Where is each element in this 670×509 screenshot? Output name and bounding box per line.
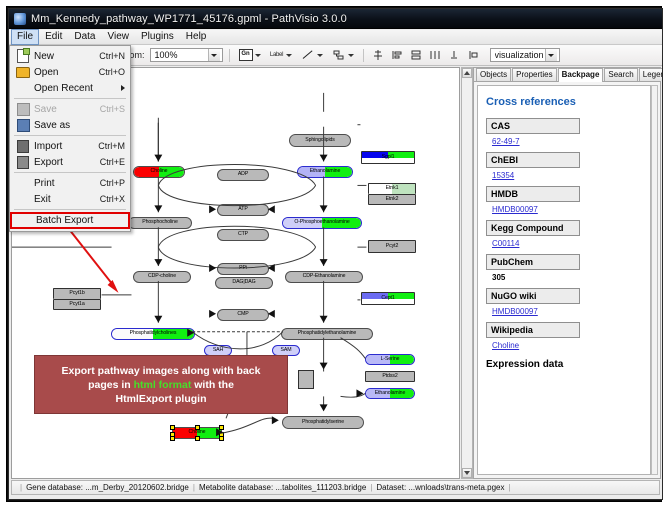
xref-value-pubchem: 305: [492, 273, 642, 282]
node-ptdss2[interactable]: Ptdss2: [365, 371, 415, 382]
file-menu-item-new[interactable]: New Ctrl+N: [10, 48, 130, 64]
scroll-up-icon[interactable]: [462, 68, 472, 78]
node-choline-bottom[interactable]: Choline: [172, 427, 222, 439]
blank-icon: [12, 192, 34, 206]
side-panel: Objects Properties Backpage Search Legen…: [473, 67, 661, 479]
xref-link-wikipedia[interactable]: Choline: [492, 341, 519, 350]
menu-file[interactable]: File: [11, 29, 39, 45]
xref-source-pubchem: PubChem: [486, 254, 580, 270]
xref-value-chebi[interactable]: 15354: [492, 171, 642, 180]
node-sgpl1[interactable]: Sgpl1: [361, 151, 415, 164]
datanode-tool[interactable]: Gn: [238, 47, 264, 63]
xref-source-cas: CAS: [486, 118, 580, 134]
open-folder-icon: [12, 65, 34, 79]
callout-box: Export pathway images along with back pa…: [34, 355, 288, 414]
callout-line3: HtmlExport plugin: [116, 392, 207, 406]
node-cdp-choline[interactable]: CDP-choline: [133, 271, 191, 283]
xref-link-nugo[interactable]: HMDB00097: [492, 307, 538, 316]
label-tool[interactable]: Label: [269, 47, 295, 63]
callout-line1: Export pathway images along with back: [62, 364, 261, 378]
export-icon: [12, 155, 34, 169]
file-menu-item-print[interactable]: Print Ctrl+P: [10, 175, 130, 191]
toolbar-separator: [363, 49, 364, 62]
cross-references-heading: Cross references: [486, 96, 642, 108]
callout-line2-pre: pages in: [88, 379, 134, 391]
expression-data-heading: Expression data: [486, 359, 642, 370]
zoom-value: 100%: [155, 50, 208, 60]
file-menu-item-exit[interactable]: Exit Ctrl+X: [10, 191, 130, 207]
scroll-down-icon[interactable]: [462, 468, 472, 478]
label-icon: Label: [269, 47, 285, 63]
node-pcyt1a[interactable]: Pcyt1a: [53, 299, 101, 310]
node-phosphatidylethanolamine[interactable]: Phosphatidylethanolamine: [281, 328, 373, 340]
callout-line2-post: with the: [191, 379, 234, 391]
menu-edit[interactable]: Edit: [39, 29, 68, 45]
xref-source-kegg: Kegg Compound: [486, 220, 580, 236]
node-atp[interactable]: ATP: [217, 204, 269, 216]
menu-help[interactable]: Help: [180, 29, 213, 45]
chevron-down-icon: [545, 49, 557, 61]
xref-link-cas[interactable]: 62-49-7: [492, 137, 520, 146]
callout-highlight: html format: [134, 379, 192, 391]
xref-value-wikipedia[interactable]: Choline: [492, 341, 642, 350]
tab-properties[interactable]: Properties: [512, 68, 556, 81]
resize-handle[interactable]: [195, 436, 200, 441]
status-gene-database: Gene database: ...m_Derby_20120602.bridg…: [26, 483, 189, 492]
node-etnk2[interactable]: Etnk2: [368, 194, 416, 205]
save-disk-icon: [12, 102, 34, 116]
node-ethanolamine-top[interactable]: Ethanolamine: [297, 166, 353, 178]
node-cmp[interactable]: CMP: [217, 309, 269, 321]
distribute-button[interactable]: [427, 47, 443, 63]
menu-divider: [14, 172, 126, 173]
status-metabolite-database: Metabolite database: ...tabolites_111203…: [199, 483, 366, 492]
status-separator: |: [189, 483, 199, 492]
backpage-scrollbar[interactable]: [651, 85, 658, 475]
tab-backpage[interactable]: Backpage: [558, 68, 604, 82]
align-center-button[interactable]: [370, 47, 386, 63]
menu-plugins[interactable]: Plugins: [135, 29, 180, 45]
node-l-serine[interactable]: L-Serine: [365, 354, 415, 365]
screenshot-root: Mm_Kennedy_pathway_WP1771_45176.gpml - P…: [0, 0, 670, 509]
interaction-icon: [331, 47, 347, 63]
node-cdp-ethanolamine[interactable]: CDP-Ethanolamine: [285, 271, 363, 283]
resize-handle[interactable]: [219, 425, 224, 430]
node-o-phosphoethanolamine[interactable]: O-Phosphoethanolamine: [282, 217, 362, 229]
line-tool[interactable]: [300, 47, 326, 63]
status-dataset: Dataset: ...wnloads\trans-meta.pgex: [376, 483, 504, 492]
same-width-button[interactable]: [446, 47, 462, 63]
blank-icon: [12, 81, 34, 95]
zoom-combo[interactable]: 100%: [150, 48, 223, 62]
resize-handle[interactable]: [170, 425, 175, 430]
tab-objects[interactable]: Objects: [476, 68, 511, 81]
menu-divider: [14, 98, 126, 99]
xref-source-wikipedia: Wikipedia: [486, 322, 580, 338]
node-center-box[interactable]: [298, 370, 314, 389]
chevron-down-icon[interactable]: [317, 54, 323, 57]
status-separator: |: [504, 483, 514, 492]
node-phosphatidylserine[interactable]: Phosphatidylserine: [282, 416, 364, 429]
title-bar: Mm_Kennedy_pathway_WP1771_45176.gpml - P…: [9, 9, 662, 29]
side-panel-tabs: Objects Properties Backpage Search Legen…: [474, 68, 660, 82]
xref-value-hmdb[interactable]: HMDB00097: [492, 205, 642, 214]
file-menu-item-export[interactable]: Export Ctrl+E: [10, 154, 130, 170]
file-menu-item-save: Save Ctrl+S: [10, 101, 130, 117]
canvas-vertical-scrollbar[interactable]: [461, 67, 473, 479]
tab-legend[interactable]: Legend: [639, 68, 663, 81]
menu-data[interactable]: Data: [68, 29, 101, 45]
file-menu-item-batch-export[interactable]: Batch Export: [10, 212, 130, 229]
xref-link-chebi[interactable]: 15354: [492, 171, 514, 180]
blank-icon: [12, 176, 34, 190]
node-choline-top[interactable]: Choline: [133, 166, 185, 178]
align-left-button[interactable]: [389, 47, 405, 63]
node-ctp[interactable]: CTP: [217, 229, 269, 241]
file-menu-item-open-recent[interactable]: Open Recent: [10, 80, 130, 96]
interaction-tool[interactable]: [331, 47, 357, 63]
new-document-icon: [12, 49, 34, 63]
node-sphingolipids[interactable]: Sphingolipids: [289, 134, 351, 147]
menu-bar: File Edit Data View Plugins Help: [9, 30, 662, 45]
menu-view[interactable]: View: [101, 29, 135, 45]
chevron-down-icon[interactable]: [255, 54, 261, 57]
file-menu-item-save-as[interactable]: Save as: [10, 117, 130, 133]
save-as-icon: [12, 118, 34, 132]
genproduct-icon: Gn: [238, 47, 254, 63]
status-separator: |: [16, 483, 26, 492]
callout-line2: pages in html format with the: [88, 378, 234, 392]
node-adp[interactable]: ADP: [217, 169, 269, 181]
backpage-content: Cross references CAS 62-49-7 ChEBI 15354…: [477, 85, 651, 475]
xref-value-kegg[interactable]: C00114: [492, 239, 642, 248]
chevron-down-icon[interactable]: [286, 54, 292, 57]
file-menu-item-open[interactable]: Open Ctrl+O: [10, 64, 130, 80]
submenu-arrow-icon: [121, 85, 125, 91]
visualization-combo[interactable]: visualization: [490, 48, 560, 62]
xref-value-nugo[interactable]: HMDB00097: [492, 307, 642, 316]
xref-source-hmdb: HMDB: [486, 186, 580, 202]
xref-link-kegg[interactable]: C00114: [492, 239, 519, 248]
node-phosphocholine[interactable]: Phosphocholine: [128, 217, 192, 229]
xref-source-nugo: NuGO wiki: [486, 288, 580, 304]
file-menu-item-import[interactable]: Import Ctrl+M: [10, 138, 130, 154]
visualization-value: visualization: [495, 50, 545, 60]
tab-search[interactable]: Search: [604, 68, 637, 81]
node-pcyt2[interactable]: Pcyt2: [368, 240, 416, 253]
resize-handle[interactable]: [219, 436, 224, 441]
node-ethanolamine-right[interactable]: Ethanolamine: [365, 388, 415, 399]
line-icon: [300, 47, 316, 63]
file-menu-popup[interactable]: New Ctrl+N Open Ctrl+O Open Recent Save …: [9, 45, 131, 232]
stack-button[interactable]: [408, 47, 424, 63]
xref-source-chebi: ChEBI: [486, 152, 580, 168]
status-separator: |: [366, 483, 376, 492]
menu-divider: [14, 135, 126, 136]
node-dag[interactable]: DAG|DAG: [215, 277, 273, 289]
blank-icon: [14, 214, 36, 228]
node-phosphatidylcholines[interactable]: Phosphatidylcholines: [111, 328, 195, 340]
node-ppi[interactable]: PPi: [217, 263, 269, 275]
resize-handle[interactable]: [170, 436, 175, 441]
chevron-down-icon: [208, 49, 220, 61]
window-title: Mm_Kennedy_pathway_WP1771_45176.gpml - P…: [31, 13, 347, 25]
toolbar-separator: [229, 49, 230, 62]
node-etnk1[interactable]: Etnk1: [368, 183, 416, 194]
status-bar: | Gene database: ...m_Derby_20120602.bri…: [11, 480, 660, 495]
pathvisio-window: Mm_Kennedy_pathway_WP1771_45176.gpml - P…: [8, 8, 663, 500]
chevron-down-icon[interactable]: [348, 54, 354, 57]
xref-value-cas[interactable]: 62-49-7: [492, 137, 642, 146]
xref-link-hmdb[interactable]: HMDB00097: [492, 205, 538, 214]
pathvisio-icon: [14, 13, 26, 25]
menu-divider: [14, 209, 126, 210]
same-height-button[interactable]: [465, 47, 481, 63]
node-pcyt1b[interactable]: Pcyt1b: [53, 288, 101, 299]
node-cept1[interactable]: Cept1: [361, 292, 415, 305]
import-icon: [12, 139, 34, 153]
